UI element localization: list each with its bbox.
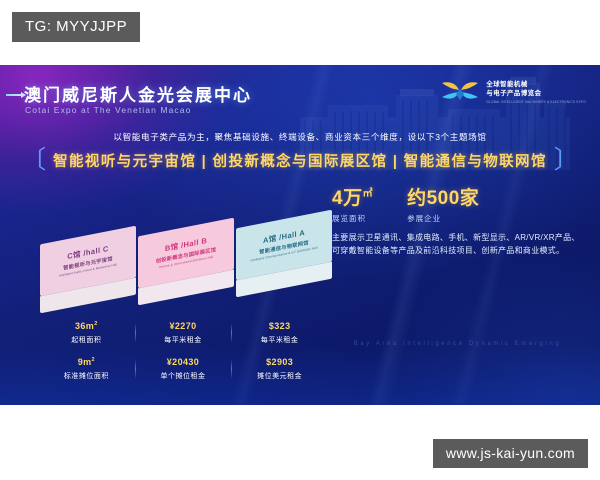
- price-label-min-area: 起租面积: [38, 335, 135, 345]
- price-value-booth-area: 9m2: [38, 357, 135, 367]
- price-value-usd-per-sqm: $323: [231, 321, 328, 331]
- expo-logo: 全球智能机械 与电子产品博览会 GLOBAL INTELLIGENT MACHI…: [440, 77, 586, 107]
- intro-text: 以智能电子类产品为主，聚焦基础设施、终端设备、商业资本三个维度，设以下3个主题场…: [0, 131, 600, 143]
- price-label-rmb-booth: 单个摊位租金: [135, 371, 232, 381]
- expo-logo-mark-icon: [440, 77, 480, 107]
- stat-exhibitors: 约500家 参展企业: [407, 183, 479, 224]
- hall-block-c[interactable]: C馆 /hall C 智能视听与元宇宙馆 Intelligent Audio-V…: [40, 235, 136, 287]
- price-label-usd-per-sqm: 每平米租金: [231, 335, 328, 345]
- expo-logo-line3: GLOBAL INTELLIGENT MACHINERY & ELECTRONI…: [486, 100, 586, 104]
- venue-name-en: Cotai Expo at The Venetian Macao: [25, 105, 191, 115]
- price-value-min-area: 36m2: [38, 321, 135, 331]
- telegram-watermark: TG: MYYJJPP: [12, 12, 140, 42]
- price-cell-booth-area: 9m2 标准摊位面积: [38, 351, 135, 387]
- bracket-left-icon: 〔: [21, 148, 46, 173]
- stat-exhibition-area-value: 4万㎡: [332, 183, 373, 210]
- price-value-rmb-per-sqm: ¥2270: [135, 321, 232, 331]
- price-num-min-area: 36m: [75, 321, 94, 331]
- hall-block-a[interactable]: A馆 /Hall A 智能通信与物联网馆 Intelligent Communi…: [236, 219, 332, 271]
- venue-name-cn: 澳门威尼斯人金光会展中心: [24, 81, 252, 106]
- price-num-rmb-per-sqm: ¥2270: [169, 321, 196, 331]
- exhibit-description: 主要展示卫星通讯、集成电路、手机、新型显示、AR/VR/XR产品、可穿戴智能设备…: [332, 231, 584, 257]
- hall-block-b[interactable]: B馆 /Hall B 创投新概念与国际展区馆 Venture & Interna…: [138, 227, 234, 279]
- stat-exhibitors-number: 约500: [407, 188, 460, 209]
- price-label-usd-booth: 摊位美元租金: [231, 371, 328, 381]
- expo-poster: 澳门威尼斯人金光会展中心 Cotai Expo at The Venetian …: [0, 65, 600, 405]
- price-cell-usd-booth: $2903 摊位美元租金: [231, 351, 328, 387]
- price-label-booth-area: 标准摊位面积: [38, 371, 135, 381]
- price-value-usd-booth: $2903: [231, 357, 328, 367]
- headline-stats: 4万㎡ 展览面积 约500家 参展企业: [332, 183, 582, 224]
- price-cell-usd-per-sqm: $323 每平米租金: [231, 315, 328, 351]
- stat-area-number: 4万: [332, 188, 363, 209]
- theme-halls-bar: 〔 智能视听与元宇宙馆 | 创投新概念与国际展区馆 | 智能通信与物联网馆 〕: [0, 148, 600, 173]
- price-num-rmb-booth: ¥20430: [167, 357, 199, 367]
- poster-header: 澳门威尼斯人金光会展中心 Cotai Expo at The Venetian …: [0, 65, 600, 123]
- expo-logo-line2: 与电子产品博览会: [486, 90, 586, 98]
- price-cell-min-area: 36m2 起租面积: [38, 315, 135, 351]
- price-sup-booth-area: 2: [92, 357, 95, 363]
- stat-exhibitors-value: 约500家: [407, 183, 479, 210]
- expo-logo-line1: 全球智能机械: [486, 81, 586, 89]
- stat-exhibition-area-label: 展览面积: [332, 213, 373, 224]
- pricing-table: 36m2 起租面积 ¥2270 每平米租金 $323 每平米租金 9m2 标准摊…: [38, 315, 328, 387]
- bracket-right-icon: 〕: [554, 148, 579, 173]
- decorative-english-watermark: Bay Area Intelligence Dynamic Emerging: [330, 341, 585, 347]
- stat-exhibitors-label: 参展企业: [407, 213, 479, 224]
- price-cell-rmb-booth: ¥20430 单个摊位租金: [135, 351, 232, 387]
- price-label-rmb-per-sqm: 每平米租金: [135, 335, 232, 345]
- price-sup-min-area: 2: [94, 321, 97, 327]
- price-cell-rmb-per-sqm: ¥2270 每平米租金: [135, 315, 232, 351]
- price-num-usd-booth: $2903: [266, 357, 293, 367]
- stat-exhibitors-unit: 家: [460, 188, 480, 209]
- theme-halls-text: 智能视听与元宇宙馆 | 创投新概念与国际展区馆 | 智能通信与物联网馆: [53, 150, 547, 171]
- price-num-usd-per-sqm: $323: [269, 321, 291, 331]
- stat-area-unit: ㎡: [363, 189, 374, 200]
- pricing-row-1: 36m2 起租面积 ¥2270 每平米租金 $323 每平米租金: [38, 315, 328, 351]
- hall-blocks-diagram: C馆 /hall C 智能视听与元宇宙馆 Intelligent Audio-V…: [34, 205, 324, 315]
- pricing-row-2: 9m2 标准摊位面积 ¥20430 单个摊位租金 $2903 摊位美元租金: [38, 351, 328, 387]
- arrow-right-icon: [6, 94, 22, 96]
- stat-exhibition-area: 4万㎡ 展览面积: [332, 183, 373, 224]
- price-value-rmb-booth: ¥20430: [135, 357, 232, 367]
- website-watermark: www.js-kai-yun.com: [433, 439, 588, 468]
- price-num-booth-area: 9m: [78, 357, 92, 367]
